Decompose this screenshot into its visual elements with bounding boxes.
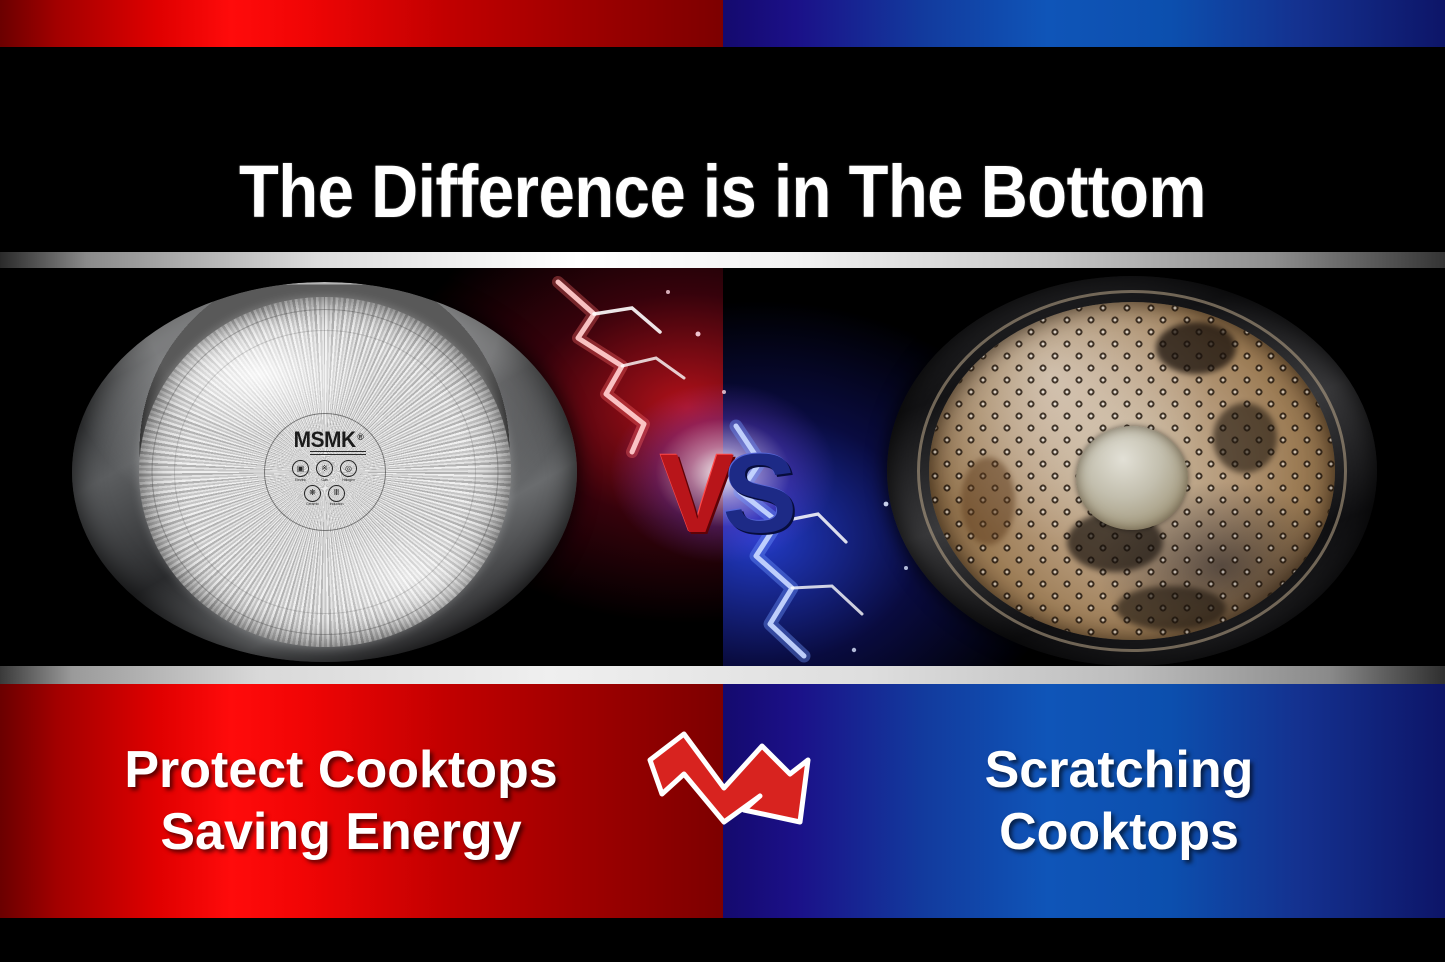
right-caption-text: Scratching Cooktops [985,739,1254,863]
versus-s: S [723,431,786,556]
electric-cooktop-glyph: ▣ [292,460,309,477]
left-caption-line1: Protect Cooktops [124,739,557,801]
right-vignette [1379,536,1445,666]
infographic-root: The Difference is in The Bottom MSMK® [0,0,1445,962]
registered-trademark-icon: ® [357,427,363,447]
gas-cooktop-label: Gas [321,478,327,482]
halogen-cooktop-glyph: ◎ [340,460,357,477]
left-caption-line2: Saving Energy [124,801,557,863]
right-caption-line2: Cooktops [985,801,1254,863]
brand-name: MSMK [294,427,356,452]
left-vignette [0,536,72,666]
gas-cooktop-glyph: ※ [316,460,333,477]
induction-cooktop-icon: Ⅲ Induction [328,485,345,507]
bad-pan-photo [887,276,1377,666]
versus-label: VS [660,444,785,544]
footer-black-strip [0,918,1445,962]
induction-cooktop-label: Induction [330,502,344,506]
right-caption-line1: Scratching [985,739,1254,801]
electric-cooktop-label: Electric [295,478,306,482]
top-color-bar [0,0,1445,47]
brushed-steel-base: MSMK® ▣ Electric ※ Gas ◎ [139,297,511,647]
halogen-cooktop-label: Halogen [342,478,355,482]
cooktop-icon-row-top: ▣ Electric ※ Gas ◎ Halogen [292,460,357,482]
zigzag-down-arrow-icon [640,726,820,836]
page-title: The Difference is in The Bottom [87,155,1359,229]
good-pan-photo: MSMK® ▣ Electric ※ Gas ◎ [72,282,577,662]
divider-bar-top [0,252,1445,268]
electric-cooktop-icon: ▣ Electric [292,460,309,482]
bad-pan-rim-ring [917,290,1347,652]
ceramic-cooktop-label: Ceramic [306,502,319,506]
msmk-logo-badge: MSMK® ▣ Electric ※ Gas ◎ [264,413,386,531]
cooktop-icon-row-bottom: ❋ Ceramic Ⅲ Induction [304,485,345,507]
left-caption-text: Protect Cooktops Saving Energy [124,739,557,863]
left-caption-block: Protect Cooktops Saving Energy [0,684,722,918]
divider-bar-bottom [0,666,1445,684]
ceramic-cooktop-glyph: ❋ [304,485,321,502]
versus-v: V [660,431,723,556]
title-band: The Difference is in The Bottom [0,47,1445,252]
brand-wordmark: MSMK® [294,430,356,450]
right-caption-block: Scratching Cooktops [723,684,1445,918]
top-bar-red-half [0,0,723,47]
halogen-cooktop-icon: ◎ Halogen [340,460,357,482]
gas-cooktop-icon: ※ Gas [316,460,333,482]
top-bar-blue-half [723,0,1445,47]
ceramic-cooktop-icon: ❋ Ceramic [304,485,321,507]
comparison-photo-area: MSMK® ▣ Electric ※ Gas ◎ [0,268,1445,666]
induction-cooktop-glyph: Ⅲ [328,485,345,502]
